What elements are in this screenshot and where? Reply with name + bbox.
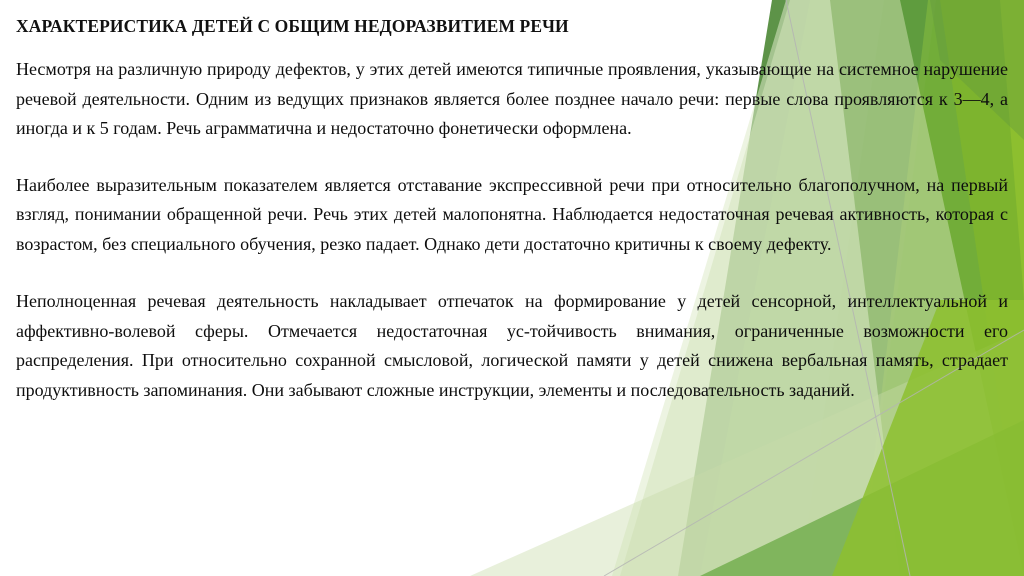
body-paragraph-3: Неполноценная речевая деятельность накла… bbox=[16, 287, 1008, 405]
body-paragraph-1: Несмотря на различную природу дефектов, … bbox=[16, 55, 1008, 144]
page-title: ХАРАКТЕРИСТИКА ДЕТЕЙ С ОБЩИМ НЕДОРАЗВИТИ… bbox=[16, 16, 1008, 37]
slide-content: ХАРАКТЕРИСТИКА ДЕТЕЙ С ОБЩИМ НЕДОРАЗВИТИ… bbox=[16, 16, 1008, 560]
body-paragraph-2: Наиболее выразительным показателем являе… bbox=[16, 171, 1008, 260]
slide-canvas: ХАРАКТЕРИСТИКА ДЕТЕЙ С ОБЩИМ НЕДОРАЗВИТИ… bbox=[0, 0, 1024, 576]
